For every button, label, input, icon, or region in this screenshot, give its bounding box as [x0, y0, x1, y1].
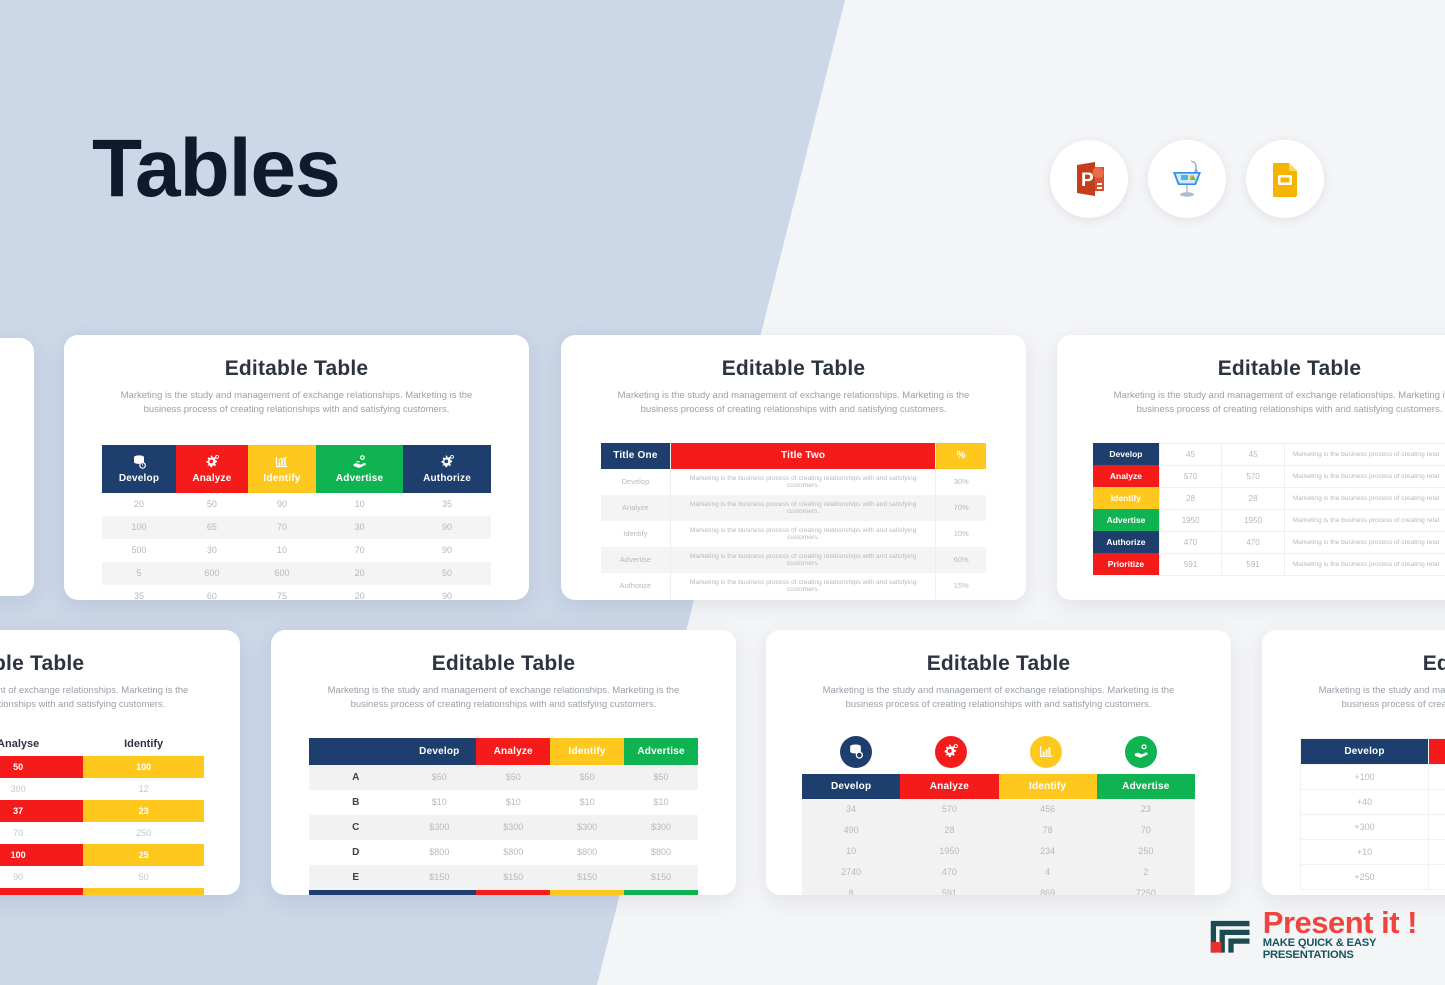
row-label: Analyze: [601, 495, 670, 521]
row-label: Develop: [601, 469, 670, 495]
gear-icon[interactable]: [935, 736, 967, 768]
row-value-1: 470: [1159, 531, 1221, 553]
card-subtitle: Marketing is the study and management of…: [115, 389, 478, 417]
card-subtitle: Marketing is the study and management of…: [322, 684, 685, 712]
table-body: 2050901035100657030905003010709056006002…: [102, 493, 491, 600]
table-row: +300+100: [1301, 814, 1445, 839]
editable-table[interactable]: Title One Title Two % DevelopMarketing i…: [601, 443, 986, 599]
table-row: Advertise19501950Marketing is the busine…: [1093, 509, 1445, 531]
row-label: Advertise: [601, 547, 670, 573]
row-label: B: [309, 790, 402, 815]
google-slides-icon[interactable]: [1246, 140, 1324, 218]
total-value-develop: 450: [402, 890, 476, 895]
table-cell: 2740: [802, 862, 900, 883]
row-label-colored: Identify: [1093, 487, 1159, 509]
header-cell-analyze[interactable]: Analyze: [900, 774, 998, 799]
card-title: Editable Table: [561, 357, 1026, 381]
total-label: Total: [309, 890, 402, 895]
table-header-row: Title One Title Two %: [601, 443, 986, 469]
table-row: AuthorizeMarketing is the business proce…: [601, 573, 986, 599]
bar-chart-icon: [248, 454, 316, 470]
table-cell: 456: [999, 799, 1097, 820]
table-body: 3457045623490287870101950234250274047042…: [802, 799, 1195, 895]
gear-icon: [403, 454, 491, 470]
header-label: Authorize: [403, 473, 491, 484]
header-label: Advertise: [316, 473, 403, 484]
row-description: Marketing is the business process of cre…: [1284, 553, 1445, 575]
editable-table[interactable]: Develop4545Marketing is the business pro…: [1093, 443, 1445, 576]
table-row: 2050901035: [102, 493, 491, 516]
total-value-advertise: 520: [624, 890, 698, 895]
editable-table[interactable]: Develop Analyze Identify Advertise 34570…: [802, 774, 1195, 895]
row-label: E: [309, 865, 402, 890]
table-cell: 5: [102, 562, 176, 585]
row-label-colored: Prioritize: [1093, 553, 1159, 575]
table-cell: 7250: [1097, 883, 1195, 895]
row-description: Marketing is the business process of cre…: [670, 521, 936, 547]
table-row: 56006002050: [102, 562, 491, 585]
table-cell: 869: [999, 883, 1097, 895]
table-cell-filled: 50: [0, 756, 83, 778]
card-colored-label-table[interactable]: Editable Table Marketing is the study an…: [1057, 335, 1445, 600]
table-cell: +100: [1301, 764, 1429, 789]
table-row: 2010100: [0, 888, 204, 895]
table-cell: $300: [476, 815, 550, 840]
card-title: Editable Table: [271, 652, 736, 676]
table-row: Prioritize591591Marketing is the busines…: [1093, 553, 1445, 575]
table-row: Identify2828Marketing is the business pr…: [1093, 487, 1445, 509]
table-cell: 70: [316, 539, 403, 562]
row-percent: 30%: [936, 469, 986, 495]
table-cell: 23: [1097, 799, 1195, 820]
card-sliver: [0, 338, 34, 596]
table-cell: 470: [900, 862, 998, 883]
table-body: 3550100530012203723107025035010025709050…: [0, 756, 204, 895]
table-row: +100+40: [1301, 764, 1445, 789]
table-cell: 591: [900, 883, 998, 895]
table-cell: 75: [248, 585, 316, 600]
header-cell-analyze[interactable]: Analyze: [476, 738, 550, 765]
table-body: DevelopMarketing is the business process…: [601, 469, 986, 599]
table-cell: 490: [802, 820, 900, 841]
row-label: Identify: [601, 521, 670, 547]
header-cell-develop[interactable]: Develop: [1301, 738, 1429, 764]
table-row: 274047042: [802, 862, 1195, 883]
table-row: +250+400: [1301, 864, 1445, 889]
table-cell: 70: [0, 822, 83, 844]
card-icon-header-table[interactable]: Editable Table Marketing is the study an…: [64, 335, 529, 600]
table-row: 709050: [0, 866, 204, 888]
logo-wordmark: Present it !: [1263, 908, 1445, 937]
table-cell: 30: [316, 516, 403, 539]
table-row: 50030107090: [102, 539, 491, 562]
table-header-row: Develop Analyze: [102, 445, 491, 493]
table-cell: 90: [403, 516, 491, 539]
table-cell: $800: [402, 840, 476, 865]
logo-mark: [1209, 911, 1255, 959]
card-subtitle: Marketing is the study and management of…: [612, 389, 975, 417]
row-description: Marketing is the business process of cre…: [670, 573, 936, 599]
hand-coin-icon[interactable]: [1125, 736, 1157, 768]
table-row: 10065703090: [102, 516, 491, 539]
table-cell: 35: [102, 585, 176, 600]
brand-logo: Present it ! MAKE QUICK & EASY PRESENTAT…: [1209, 908, 1445, 961]
table-body: Develop4545Marketing is the business pro…: [1093, 443, 1445, 575]
table-cell: 570: [900, 799, 998, 820]
table-cell: 78: [999, 820, 1097, 841]
table-row: 3457045623: [802, 799, 1195, 820]
table-cell: 8: [802, 883, 900, 895]
table-cell: $50: [476, 765, 550, 790]
table-cell: 90: [403, 585, 491, 600]
table-body: +100+40+40+2000+300+100+10+7+250+400: [1301, 764, 1445, 889]
editable-table[interactable]: Develop Analyze: [102, 445, 491, 600]
table-cell: $10: [476, 790, 550, 815]
powerpoint-icon[interactable]: P: [1050, 140, 1128, 218]
table-row: D$800$800$800$800: [309, 840, 698, 865]
row-value-1: 570: [1159, 465, 1221, 487]
circle-icon-row: [802, 736, 1195, 774]
table-row: 203723: [0, 800, 204, 822]
row-label: D: [309, 840, 402, 865]
gear-icon: [176, 454, 248, 470]
row-label-colored: Advertise: [1093, 509, 1159, 531]
table-cell: $800: [624, 840, 698, 865]
row-label: C: [309, 815, 402, 840]
table-row: C$300$300$300$300: [309, 815, 698, 840]
slide-canvas: Tables P: [0, 0, 1445, 985]
table-cell: 65: [176, 516, 248, 539]
table-cell: +100: [1429, 814, 1445, 839]
table-row: AdvertiseMarketing is the business proce…: [601, 547, 986, 573]
header-cell-identify[interactable]: Identify: [999, 774, 1097, 799]
table-cell: 600: [176, 562, 248, 585]
row-label: Authorize: [601, 573, 670, 599]
column-header-identify: Identify: [83, 738, 204, 756]
table-cell: 100: [102, 516, 176, 539]
total-value-identify: 290: [550, 890, 624, 895]
table-row: 3560752090: [102, 585, 491, 600]
table-row: 3550100: [0, 756, 204, 778]
table-cell-filled: 25: [83, 844, 204, 866]
header-cell-develop[interactable]: Develop: [102, 445, 176, 493]
table-row: Authorize470470Marketing is the business…: [1093, 531, 1445, 553]
row-label-colored: Develop: [1093, 443, 1159, 465]
row-description: Marketing is the business process of cre…: [1284, 531, 1445, 553]
table-header-row: Develop Analyze: [1301, 738, 1445, 764]
header-cell-advertise[interactable]: Advertise: [624, 738, 698, 765]
table-row: E$150$150$150$150: [309, 865, 698, 890]
row-value-1: 28: [1159, 487, 1221, 509]
header-label: Analyze: [176, 473, 248, 484]
header-cell-analyze[interactable]: Analyze: [176, 445, 248, 493]
row-description: Marketing is the business process of cre…: [1284, 465, 1445, 487]
table-row: IdentifyMarketing is the business proces…: [601, 521, 986, 547]
card-title: Editable Table: [64, 357, 529, 381]
row-percent: 60%: [936, 547, 986, 573]
row-value-2: 1950: [1222, 509, 1284, 531]
table-cell: 35: [403, 493, 491, 516]
table-cell: 1950: [900, 841, 998, 862]
table-cell: 250: [1097, 841, 1195, 862]
table-cell: 12: [83, 778, 204, 800]
table-cell: 234: [999, 841, 1097, 862]
table-cell: 70: [248, 516, 316, 539]
table-cell: 28: [900, 820, 998, 841]
table-row: Analyze570570Marketing is the business p…: [1093, 465, 1445, 487]
row-description: Marketing is the business process of cre…: [670, 547, 936, 573]
bar-chart-icon[interactable]: [1030, 736, 1062, 768]
card-total-table[interactable]: Editable Table Marketing is the study an…: [271, 630, 736, 895]
table-cell: 34: [802, 799, 900, 820]
table-cell: 50: [403, 562, 491, 585]
table-row: A$50$50$50$50: [309, 765, 698, 790]
table-cell: 2: [1097, 862, 1195, 883]
table-cell: $50: [624, 765, 698, 790]
table-body: A$50$50$50$50B$10$10$10$10C$300$300$300$…: [309, 765, 698, 890]
table-cell: +40: [1301, 789, 1429, 814]
table-cell: $150: [476, 865, 550, 890]
card-subtitle: Marketing is the study and management of…: [817, 684, 1180, 712]
table-cell: $300: [550, 815, 624, 840]
page-title: Tables: [92, 128, 340, 210]
row-label-colored: Analyze: [1093, 465, 1159, 487]
table-cell: 50: [83, 866, 204, 888]
table-cell: $150: [402, 865, 476, 890]
table-cell: 10: [248, 539, 316, 562]
table-cell: 500: [102, 539, 176, 562]
table-cell: 60: [176, 585, 248, 600]
row-percent: 15%: [936, 573, 986, 599]
row-description: Marketing is the business process of cre…: [670, 469, 936, 495]
table-cell: 4: [999, 862, 1097, 883]
table-cell: 10: [802, 841, 900, 862]
table-row: +10+7: [1301, 839, 1445, 864]
header-cell-title-one[interactable]: Title One: [601, 443, 670, 469]
editable-table[interactable]: Develop Analyse Identify 355010053001220…: [0, 738, 204, 895]
header-cell-identify[interactable]: Identify: [248, 445, 316, 493]
table-cell: +250: [1301, 864, 1429, 889]
table-row: B$10$10$10$10: [309, 790, 698, 815]
table-row: 85918697250: [802, 883, 1195, 895]
header-cell-title-two[interactable]: Title Two: [670, 443, 936, 469]
table-cell: +40: [1429, 764, 1445, 789]
logo-tagline: MAKE QUICK & EASY PRESENTATIONS: [1263, 937, 1445, 961]
table-cell: $50: [550, 765, 624, 790]
table-cell: $150: [550, 865, 624, 890]
table-cell: 50: [176, 493, 248, 516]
row-description: Marketing is the business process of cre…: [1284, 487, 1445, 509]
row-value-2: 570: [1222, 465, 1284, 487]
row-description: Marketing is the business process of cre…: [1284, 443, 1445, 465]
header-cell-advertise[interactable]: Advertise: [1097, 774, 1195, 799]
header-cell-identify[interactable]: Identify: [550, 738, 624, 765]
table-header-row: Develop Analyze Identify Advertise: [309, 738, 698, 765]
card-bar-table[interactable]: Editable Table Marketing is the study an…: [0, 630, 240, 895]
table-cell: $10: [550, 790, 624, 815]
header-label: Identify: [248, 473, 316, 484]
card-title: Editable Table: [0, 652, 240, 676]
table-cell: $300: [624, 815, 698, 840]
table-row: 101950234250: [802, 841, 1195, 862]
table-cell: 300: [0, 778, 83, 800]
row-value-2: 28: [1222, 487, 1284, 509]
table-cell: $10: [402, 790, 476, 815]
table-cell: 30: [176, 539, 248, 562]
editable-table[interactable]: Develop Analyze +100+40+40+2000+300+100+…: [1300, 738, 1445, 890]
row-label: A: [309, 765, 402, 790]
table-cell-filled: 23: [83, 800, 204, 822]
card-delta-table[interactable]: Editable Table Marketing is the study an…: [1262, 630, 1445, 895]
app-format-icons: P: [1050, 140, 1324, 218]
table-cell: +2000: [1429, 789, 1445, 814]
table-row: Develop4545Marketing is the business pro…: [1093, 443, 1445, 465]
header-cell-develop[interactable]: Develop: [402, 738, 476, 765]
table-cell: $150: [624, 865, 698, 890]
table-cell: $10: [624, 790, 698, 815]
table-cell: +7: [1429, 839, 1445, 864]
table-row: 530012: [0, 778, 204, 800]
row-value-2: 591: [1222, 553, 1284, 575]
table-cell: 600: [248, 562, 316, 585]
table-cell: 20: [316, 562, 403, 585]
header-cell-develop[interactable]: Develop: [802, 774, 900, 799]
column-header-analyse: Analyse: [0, 738, 83, 756]
table-cell: $50: [402, 765, 476, 790]
table-cell: 90: [248, 493, 316, 516]
card-subtitle: Marketing is the study and management of…: [0, 684, 190, 712]
card-title: Editable Table: [1262, 652, 1445, 676]
card-subtitle: Marketing is the study and management of…: [1313, 684, 1445, 712]
card-title: Editable Table: [766, 652, 1231, 676]
table-total-row: Total 450 740 290 520: [309, 890, 698, 895]
table-cell: 70: [1097, 820, 1195, 841]
header-cell-percent[interactable]: %: [936, 443, 986, 469]
row-value-1: 1950: [1159, 509, 1221, 531]
table-cell: 90: [0, 866, 83, 888]
table-cell: $800: [550, 840, 624, 865]
table-cell-filled: 37: [0, 800, 83, 822]
row-percent: 70%: [936, 495, 986, 521]
table-cell: +400: [1429, 864, 1445, 889]
table-cell-filled: 100: [83, 888, 204, 895]
table-header-row: Develop Analyse Identify: [0, 738, 204, 756]
editable-table[interactable]: Develop Analyze Identify Advertise A$50$…: [309, 738, 698, 895]
header-cell-authorize[interactable]: Authorize: [403, 445, 491, 493]
table-cell: +300: [1301, 814, 1429, 839]
table-header-row: Develop Analyze Identify Advertise: [802, 774, 1195, 799]
card-text-table[interactable]: Editable Table Marketing is the study an…: [561, 335, 1026, 600]
table-cell: 90: [403, 539, 491, 562]
card-subtitle: Marketing is the study and management of…: [1108, 389, 1445, 417]
header-label: Develop: [102, 473, 176, 484]
row-value-1: 45: [1159, 443, 1221, 465]
table-row: 1070250: [0, 822, 204, 844]
table-row: AnalyzeMarketing is the business process…: [601, 495, 986, 521]
table-cell: 20: [316, 585, 403, 600]
table-cell: 250: [83, 822, 204, 844]
keynote-icon[interactable]: [1148, 140, 1226, 218]
table-row: +40+2000: [1301, 789, 1445, 814]
row-value-1: 591: [1159, 553, 1221, 575]
row-value-2: 470: [1222, 531, 1284, 553]
table-cell-filled: 100: [83, 756, 204, 778]
table-cell: $300: [402, 815, 476, 840]
header-cell-analyze[interactable]: Analyze: [1429, 738, 1445, 764]
table-row: 35010025: [0, 844, 204, 866]
database-icon: [102, 454, 176, 470]
header-cell-blank: [309, 738, 402, 765]
row-description: Marketing is the business process of cre…: [1284, 509, 1445, 531]
database-icon[interactable]: [840, 736, 872, 768]
row-value-2: 45: [1222, 443, 1284, 465]
row-description: Marketing is the business process of cre…: [670, 495, 936, 521]
table-cell: +10: [1301, 839, 1429, 864]
svg-text:P: P: [1081, 170, 1094, 191]
table-row: DevelopMarketing is the business process…: [601, 469, 986, 495]
table-cell: $800: [476, 840, 550, 865]
hand-coin-icon: [316, 454, 403, 470]
table-cell-filled: 10: [0, 888, 83, 895]
table-cell: 10: [316, 493, 403, 516]
row-label-colored: Authorize: [1093, 531, 1159, 553]
table-cell: 20: [102, 493, 176, 516]
total-value-analyze: 740: [476, 890, 550, 895]
table-cell-filled: 100: [0, 844, 83, 866]
row-percent: 10%: [936, 521, 986, 547]
header-cell-advertise[interactable]: Advertise: [316, 445, 403, 493]
card-title: Editable Table: [1057, 357, 1445, 381]
card-circle-icon-table[interactable]: Editable Table Marketing is the study an…: [766, 630, 1231, 895]
table-row: 490287870: [802, 820, 1195, 841]
